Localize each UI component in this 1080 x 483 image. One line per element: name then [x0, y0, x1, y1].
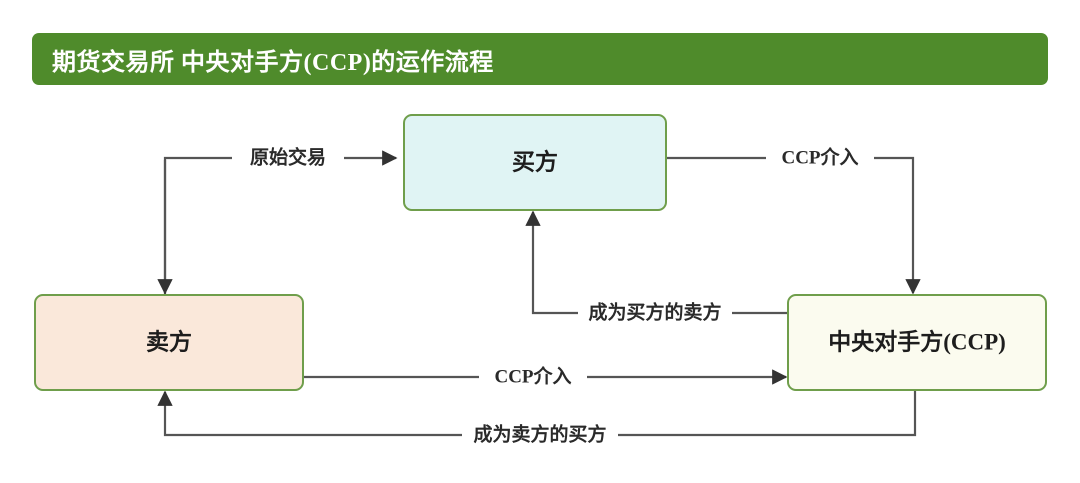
- node-buyer-label: 买方: [512, 148, 558, 174]
- edge-ccp-intervention-top-label: CCP介入: [781, 145, 858, 168]
- node-seller[interactable]: 卖方: [35, 295, 303, 390]
- edge-ccp-intervention-bottom: CCP介入: [303, 364, 786, 390]
- node-seller-label: 卖方: [146, 328, 192, 354]
- flowchart-canvas: 原始交易 CCP介入 成为买方的卖方 CCP介入 成为卖方的买方: [0, 0, 1080, 483]
- edge-ccp-intervention-top-path: [666, 158, 913, 293]
- edge-becomes-buyer-to-seller: 成为卖方的买方: [165, 390, 915, 448]
- node-buyer[interactable]: 买方: [404, 115, 666, 210]
- edge-original-trade: 原始交易: [165, 145, 396, 295]
- edge-original-trade-label: 原始交易: [250, 145, 326, 168]
- flowchart-diagram: 期货交易所 中央对手方(CCP)的运作流程 原始交易 CCP介入 成为买方的卖方: [0, 0, 1080, 483]
- edge-becomes-buyer-to-seller-label: 成为卖方的买方: [473, 422, 606, 445]
- edge-becomes-seller-to-buyer-path: [533, 212, 788, 313]
- edge-ccp-intervention-top: CCP介入: [666, 145, 913, 293]
- node-ccp-label: 中央对手方(CCP): [828, 328, 1006, 354]
- edge-becomes-seller-to-buyer-label: 成为买方的卖方: [588, 300, 721, 323]
- edge-ccp-intervention-bottom-label: CCP介入: [494, 364, 571, 387]
- edge-original-trade-path: [165, 158, 396, 295]
- edge-becomes-seller-to-buyer: 成为买方的卖方: [533, 212, 788, 326]
- node-ccp[interactable]: 中央对手方(CCP): [788, 295, 1046, 390]
